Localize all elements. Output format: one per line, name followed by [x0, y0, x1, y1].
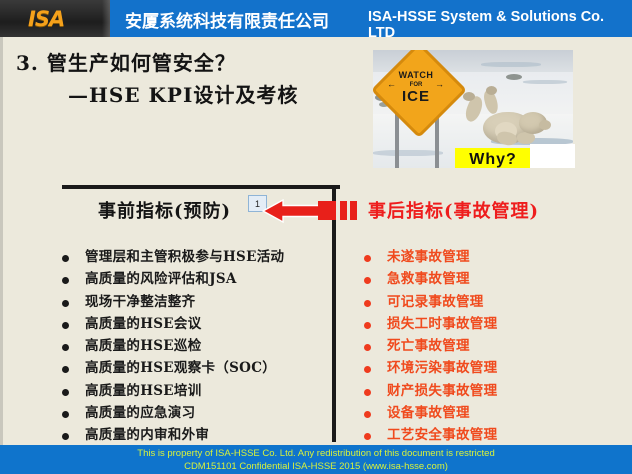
- lagging-indicators-list: 未遂事故管理 急救事故管理 可记录事故管理 损失工时事故管理 死亡事故管理 环境…: [364, 248, 629, 449]
- list-item: 高质量的风险评估和JSA: [62, 270, 334, 292]
- list-item: 高质量的应急演习: [62, 404, 334, 426]
- leading-indicators-heading: 事前指标(预防): [98, 197, 231, 223]
- list-item: 急救事故管理: [364, 270, 629, 292]
- why-caption-box: Why?: [455, 148, 531, 168]
- bullet-icon: [364, 411, 371, 418]
- bullet-icon: [364, 277, 371, 284]
- footer-document-id-line: CDM151101 Confidential ISA-HSSE 2015 (ww…: [0, 461, 632, 473]
- bullet-icon: [62, 255, 69, 262]
- ice-streak: [523, 80, 567, 84]
- list-item: 可记录事故管理: [364, 293, 629, 315]
- bullet-icon: [62, 344, 69, 351]
- bullet-icon: [364, 322, 371, 329]
- bullet-icon: [62, 366, 69, 373]
- arrow-tail-block: [318, 201, 336, 220]
- logo-panel: ISA: [0, 0, 110, 37]
- slide-footer: This is property of ISA-HSSE Co. Ltd. An…: [0, 445, 632, 474]
- arrow-tail-segment: [340, 201, 347, 220]
- sign-word-watch: WATCH: [399, 71, 434, 80]
- bullet-icon: [62, 322, 69, 329]
- bullet-icon: [62, 389, 69, 396]
- list-item: 死亡事故管理: [364, 337, 629, 359]
- company-name-en: ISA-HSSE System & Solutions Co. LTD: [368, 9, 632, 41]
- list-item-label: 高质量的HSE巡检: [85, 337, 202, 356]
- list-item-label: 高质量的内审和外审: [85, 426, 209, 445]
- sign-word-ice: ICE: [402, 89, 430, 104]
- footer-copyright-line: This is property of ISA-HSSE Co. Ltd. An…: [0, 448, 632, 460]
- list-item-label: 死亡事故管理: [387, 337, 470, 356]
- list-item-label: 高质量的应急演习: [85, 404, 195, 423]
- list-item-label: 设备事故管理: [387, 404, 470, 423]
- list-item-label: 急救事故管理: [387, 270, 470, 289]
- isa-logo: ISA: [28, 7, 64, 31]
- bear-snout: [539, 120, 551, 130]
- list-item-label: 高质量的HSE培训: [85, 382, 202, 401]
- slide-title-line-2: —HSE KPI设计及考核: [68, 79, 298, 108]
- slide-title-line-1: 3. 管生产如何管安全？: [16, 47, 236, 76]
- list-item-label: 高质量的HSE会议: [85, 315, 202, 334]
- list-item: 财产损失事故管理: [364, 382, 629, 404]
- list-item: 环境污染事故管理: [364, 359, 629, 381]
- list-item: 高质量的HSE培训: [62, 382, 334, 404]
- slide-canvas: ISA 安厦系统科技有限责任公司 ISA-HSSE System & Solut…: [0, 0, 632, 474]
- list-item-label: 高质量的HSE观察卡（SOC）: [85, 359, 276, 378]
- list-item-label: 现场干净整洁整齐: [85, 293, 195, 312]
- list-item-label: 管理层和主管积极参与HSE活动: [85, 248, 284, 267]
- list-item: 现场干净整洁整齐: [62, 293, 334, 315]
- list-item-label: 财产损失事故管理: [387, 382, 497, 401]
- sign-word-for: FOR: [410, 82, 423, 88]
- bullet-icon: [62, 277, 69, 284]
- bullet-icon: [364, 433, 371, 440]
- bullet-icon: [364, 389, 371, 396]
- list-item-label: 高质量的风险评估和JSA: [85, 270, 237, 289]
- list-item: 设备事故管理: [364, 404, 629, 426]
- bullet-icon: [364, 344, 371, 351]
- bullet-icon: [364, 255, 371, 262]
- horizontal-divider: [62, 185, 340, 189]
- bullet-icon: [62, 411, 69, 418]
- slide-left-edge: [0, 0, 3, 474]
- list-item: 未遂事故管理: [364, 248, 629, 270]
- list-item: 高质量的HSE巡检: [62, 337, 334, 359]
- bear-paw: [463, 92, 475, 101]
- list-item-label: 环境污染事故管理: [387, 359, 497, 378]
- photo-white-filler: [530, 144, 575, 168]
- ice-streak: [481, 62, 541, 67]
- bear-paw: [486, 86, 497, 95]
- bullet-icon: [364, 300, 371, 307]
- sign-left-arrow-icon: ←: [387, 79, 396, 89]
- list-item-label: 可记录事故管理: [387, 293, 484, 312]
- list-item: 管理层和主管积极参与HSE活动: [62, 248, 334, 270]
- arrow-tail-segment: [350, 201, 357, 220]
- list-item: 损失工时事故管理: [364, 315, 629, 337]
- list-item-label: 工艺安全事故管理: [387, 426, 497, 445]
- leading-indicators-list: 管理层和主管积极参与HSE活动 高质量的风险评估和JSA 现场干净整洁整齐 高质…: [62, 248, 334, 449]
- list-item-label: 损失工时事故管理: [387, 315, 497, 334]
- bullet-icon: [62, 300, 69, 307]
- list-item: 高质量的HSE会议: [62, 315, 334, 337]
- ice-streak: [373, 150, 443, 156]
- why-caption-text: Why?: [469, 151, 517, 168]
- list-item-label: 未遂事故管理: [387, 248, 470, 267]
- bullet-icon: [364, 366, 371, 373]
- bullet-icon: [62, 433, 69, 440]
- company-name-cn: 安厦系统科技有限责任公司: [125, 7, 329, 32]
- slide-header: ISA 安厦系统科技有限责任公司 ISA-HSSE System & Solut…: [0, 0, 632, 37]
- lagging-indicators-heading: 事后指标(事故管理): [368, 197, 539, 223]
- header-title-bar: 安厦系统科技有限责任公司 ISA-HSSE System & Solutions…: [110, 0, 632, 37]
- list-item: 高质量的HSE观察卡（SOC）: [62, 359, 334, 381]
- sign-right-arrow-icon: →: [435, 79, 444, 89]
- rock: [506, 74, 522, 80]
